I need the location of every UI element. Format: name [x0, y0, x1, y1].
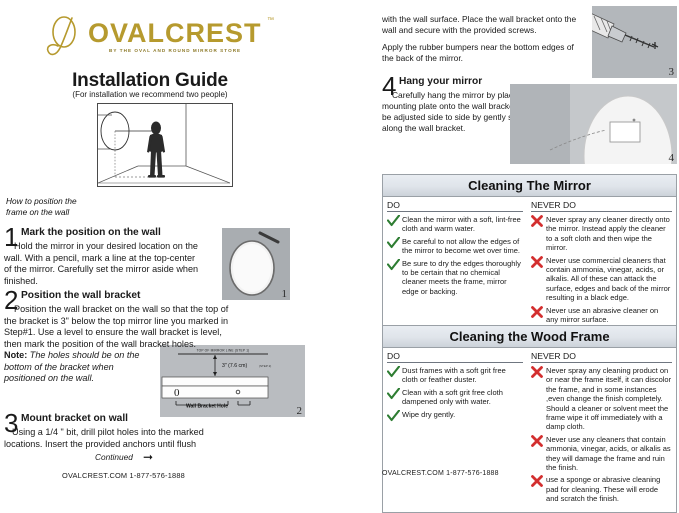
room-diagram-caption: How to position the frame on the wall: [6, 196, 94, 218]
right-column: with the wall surface. Place the wall br…: [380, 0, 679, 489]
footer-left: OVALCREST.COM 1-877-576-1888: [62, 471, 185, 480]
list-item: Never use commercial cleaners that conta…: [531, 256, 672, 303]
green-check-icon: [387, 259, 402, 297]
list-item: Be sure to dry the edges thoroughly to b…: [387, 259, 523, 297]
do-item-text: Clean with a soft grit free cloth dampen…: [402, 388, 523, 407]
cleaning-frame-never-column: NEVER DO Never spray any cleaning produc…: [527, 348, 676, 512]
do-item-text: Wipe dry gently.: [402, 410, 523, 422]
bracket-measurement-diagram: TOP OF MIRROR LINE (STEP 1) 3" (7.6 cm) …: [160, 345, 305, 417]
cleaning-mirror-title: Cleaning The Mirror: [383, 178, 676, 193]
do-header: DO: [387, 351, 523, 363]
step-3-heading: Mount bracket on wall: [21, 413, 128, 424]
green-check-icon: [387, 388, 402, 407]
do-header: DO: [387, 200, 523, 212]
list-item: Never spray any cleaner directly onto th…: [531, 215, 672, 253]
installation-guide-page: OVALCREST ™ BY THE OVAL AND ROUND MIRROR…: [0, 0, 679, 489]
green-check-icon: [387, 215, 402, 234]
never-item-text: Never spray any cleaner directly onto th…: [546, 215, 672, 253]
do-item-text: Be sure to dry the edges thoroughly to b…: [402, 259, 523, 297]
never-item-text: Never use an abrasive cleaner on any mir…: [546, 306, 672, 325]
cleaning-frame-do-column: DO Dust frames with a soft grit free clo…: [383, 348, 527, 512]
svg-text:0: 0: [174, 387, 180, 399]
cleaning-frame-panel: Cleaning the Wood Frame DO Dust frames w…: [382, 325, 677, 513]
do-item-text: Clean the mirror with a soft, lint-free …: [402, 215, 523, 234]
svg-text:Wall Bracket Hole: Wall Bracket Hole: [186, 404, 228, 410]
step-4-heading: Hang your mirror: [399, 76, 482, 87]
list-item: Clean the mirror with a soft, lint-free …: [387, 215, 523, 234]
cleaning-mirror-never-column: NEVER DO Never spray any cleaner directl…: [527, 197, 676, 332]
photo-number: 1: [282, 288, 288, 300]
cleaning-mirror-do-column: DO Clean the mirror with a soft, lint-fr…: [383, 197, 527, 332]
red-x-icon: [531, 475, 546, 503]
never-item-text: use a sponge or abrasive cleaning pad fo…: [546, 475, 672, 503]
step-2-body: Position the wall bracket on the wall so…: [4, 304, 232, 350]
intro-paragraph-1: with the wall surface. Place the wall br…: [382, 14, 587, 36]
brand-logo: OVALCREST ™ BY THE OVAL AND ROUND MIRROR…: [42, 14, 322, 60]
red-x-icon: [531, 306, 546, 325]
cleaning-mirror-panel: Cleaning The Mirror DO Clean the mirror …: [382, 174, 677, 333]
green-check-icon: [387, 237, 402, 256]
cleaning-frame-title: Cleaning the Wood Frame: [383, 329, 676, 344]
list-item: Dust frames with a soft grit free cloth …: [387, 366, 523, 385]
photo-number: 3: [669, 66, 675, 78]
photo-drill-screw: 3: [592, 6, 677, 78]
step-3-body: Using a 1/4 " bit, drill pilot holes int…: [4, 427, 242, 450]
green-check-icon: [387, 366, 402, 385]
trademark-symbol: ™: [267, 17, 274, 24]
never-item-text: Never use commercial cleaners that conta…: [546, 256, 672, 303]
cleaning-mirror-header: Cleaning The Mirror: [383, 175, 676, 197]
step-2-note: Note: The holes should be on the bottom …: [4, 350, 154, 385]
svg-text:(STEP 2): (STEP 2): [259, 364, 271, 368]
do-item-text: Be careful to not allow the edges of the…: [402, 237, 523, 256]
caption-line-1: How to position the: [6, 196, 77, 206]
never-do-header: NEVER DO: [531, 351, 672, 363]
photo-hanging-mirror: 4: [510, 84, 677, 164]
red-x-icon: [531, 215, 546, 253]
step-1-body: Hold the mirror in your desired location…: [4, 241, 204, 287]
footer-right: OVALCREST.COM 1-877-576-1888: [382, 470, 499, 477]
intro-paragraph-2: Apply the rubber bumpers near the bottom…: [382, 42, 587, 64]
red-x-icon: [531, 256, 546, 303]
photo-oval-mirror: 1: [222, 228, 290, 300]
bracket-photo-number: 2: [297, 405, 303, 417]
list-item: Clean with a soft grit free cloth dampen…: [387, 388, 523, 407]
page-subtitle: (For installation we recommend two peopl…: [0, 90, 300, 99]
note-label: Note:: [4, 350, 27, 360]
oval-swirl-logo-icon: [42, 14, 88, 58]
cleaning-frame-header: Cleaning the Wood Frame: [383, 326, 676, 348]
red-x-icon: [531, 366, 546, 432]
brand-tagline: BY THE OVAL AND ROUND MIRROR STORE: [109, 48, 241, 53]
step-2-heading: Position the wall bracket: [21, 290, 140, 301]
page-title: Installation Guide: [0, 70, 300, 92]
continued-label: Continued: [95, 452, 133, 462]
list-item: Wipe dry gently.: [387, 410, 523, 422]
list-item: Never spray any cleaning product on or n…: [531, 366, 672, 432]
step-1-heading: Mark the position on the wall: [21, 227, 161, 238]
svg-text:3" (7.6 cm): 3" (7.6 cm): [222, 363, 247, 369]
list-item: use a sponge or abrasive cleaning pad fo…: [531, 475, 672, 503]
right-arrow-icon: ➞: [143, 450, 153, 464]
never-item-text: Never spray any cleaning product on or n…: [546, 366, 672, 432]
list-item: Never use an abrasive cleaner on any mir…: [531, 306, 672, 325]
brand-name: OVALCREST: [88, 18, 262, 49]
left-column: OVALCREST ™ BY THE OVAL AND ROUND MIRROR…: [0, 0, 372, 489]
red-x-icon: [531, 435, 546, 473]
caption-line-2: frame on the wall: [6, 207, 69, 217]
never-do-header: NEVER DO: [531, 200, 672, 212]
list-item: Be careful to not allow the edges of the…: [387, 237, 523, 256]
photo-number: 4: [669, 152, 675, 164]
room-position-diagram: [97, 103, 233, 187]
green-check-icon: [387, 410, 402, 422]
list-item: Never use any cleaners that contain ammo…: [531, 435, 672, 473]
never-item-text: Never use any cleaners that contain ammo…: [546, 435, 672, 473]
do-item-text: Dust frames with a soft grit free cloth …: [402, 366, 523, 385]
step-2-text: Position the wall bracket on the wall so…: [4, 304, 232, 350]
